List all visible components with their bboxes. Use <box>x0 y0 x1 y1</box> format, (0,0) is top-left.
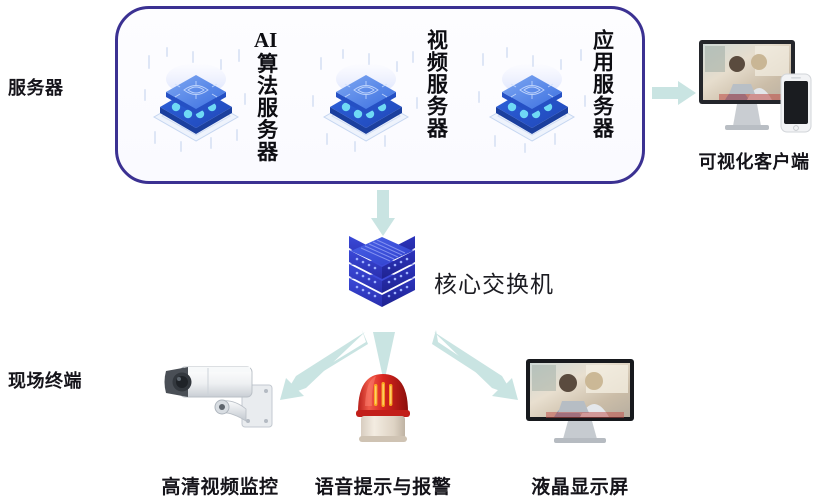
chip-server-icon-video <box>310 45 422 157</box>
server-node-label-app: 应用服务器 <box>590 29 614 139</box>
terminal-label-alarm: 语音提示与报警 <box>308 472 458 499</box>
arrow-servers-to-client <box>652 78 698 108</box>
ai-chip-server-icon <box>140 45 252 157</box>
lcd-monitor-icon[interactable] <box>524 357 636 445</box>
desktop-monitor-with-phone-icon[interactable] <box>697 38 815 142</box>
architecture-diagram-canvas: 服务器 现场终端 <box>0 0 822 499</box>
tier-label-field-terminals: 现场终端 <box>8 367 82 393</box>
server-group-container: AI算法服务器 <box>115 6 645 184</box>
server-node-label-ai: AI算法服务器 <box>254 29 278 163</box>
server-node-label-ai-latin: AI <box>254 29 277 53</box>
client-label: 可视化客户端 <box>679 148 822 174</box>
terminal-label-display: 液晶显示屏 <box>520 472 640 499</box>
chip-server-icon-app <box>476 45 588 157</box>
server-node-label-video: 视频服务器 <box>424 29 448 139</box>
terminal-label-camera: 高清视频监控 <box>150 472 290 499</box>
arrow-switch-to-display <box>432 330 534 402</box>
cctv-camera-icon[interactable] <box>158 355 280 441</box>
core-switch-label: 核心交换机 <box>434 265 554 299</box>
server-node-ai-algorithm[interactable]: AI算法服务器 <box>140 27 278 173</box>
chip-illustration <box>476 45 588 157</box>
chip-illustration <box>140 45 252 157</box>
server-node-label-ai-cn: 算法服务器 <box>255 53 278 163</box>
tier-label-servers: 服务器 <box>8 74 64 100</box>
alarm-beacon-icon[interactable] <box>352 366 414 444</box>
server-node-video[interactable]: 视频服务器 <box>310 27 448 173</box>
stacked-switch-icon[interactable] <box>343 235 421 327</box>
chip-illustration <box>310 45 422 157</box>
arrow-servers-to-switch <box>368 190 398 238</box>
server-node-application[interactable]: 应用服务器 <box>476 27 614 173</box>
